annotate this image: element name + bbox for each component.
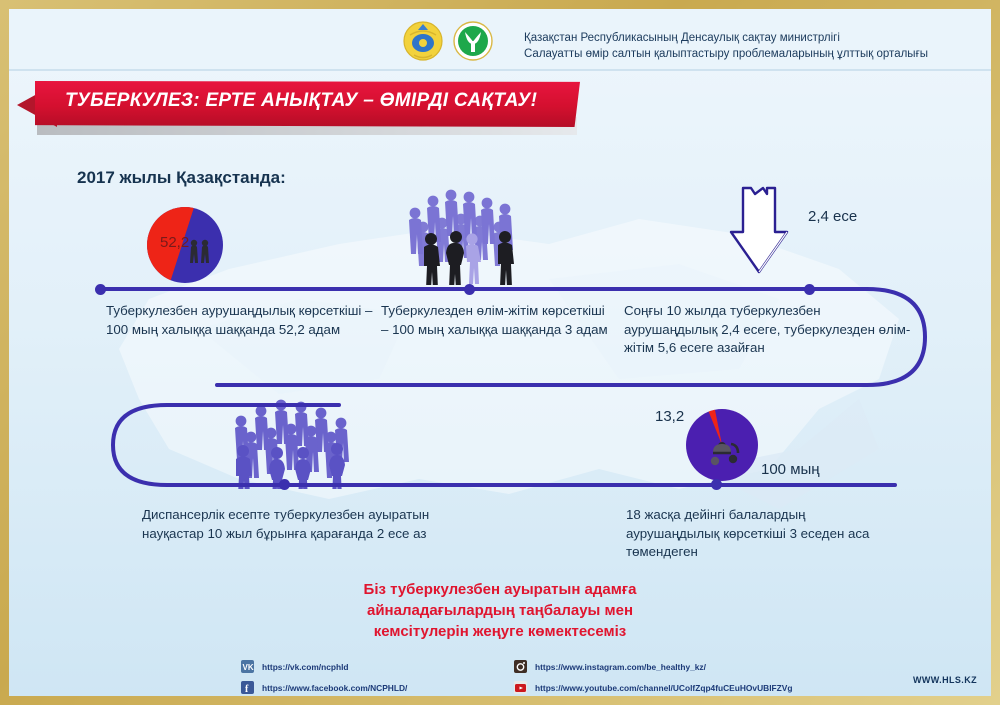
pie-data-label-1: 52,2	[160, 234, 189, 251]
message-line-1: Біз туберкулезбен ауыратын адамға	[9, 579, 991, 600]
facebook-link[interactable]: https://www.facebook.com/NCPHLD/	[262, 683, 407, 693]
stat-text-children: 18 жасқа дейінгі балалардың аурушаңдылық…	[626, 506, 896, 562]
instagram-link[interactable]: https://www.instagram.com/be_healthy_kz/	[535, 662, 706, 672]
facebook-icon[interactable]: f	[241, 681, 254, 694]
stat-text-decade-decline: Соңғы 10 жылда туберкулезбен аурушаңдылы…	[624, 302, 914, 358]
timeline-node-1	[464, 284, 475, 295]
timeline-row-2	[109, 401, 899, 491]
svg-text:f: f	[245, 684, 249, 694]
banner: ТУБЕРКУЛЕЗ: ЕРТЕ АНЫҚТАУ – ӨМІРДІ САҚТАУ…	[9, 77, 609, 147]
footer: VK https://vk.com/ncphld f https://www.f…	[9, 649, 991, 696]
instagram-icon[interactable]	[514, 660, 527, 673]
timeline-node-start	[95, 284, 106, 295]
timeline-node-4	[711, 479, 722, 490]
banner-title: ТУБЕРКУЛЕЗ: ЕРТЕ АНЫҚТАУ – ӨМІРДІ САҚТАУ…	[65, 90, 537, 112]
down-arrow-icon	[727, 184, 793, 279]
stat-text-mortality: Туберкулезден өлім-жітім көрсеткіші – 10…	[381, 302, 613, 339]
youtube-link[interactable]: https://www.youtube.com/channel/UColfZqp…	[535, 683, 792, 693]
stat-text-dispensary: Диспансерлік есепте туберкулезбен ауырат…	[142, 506, 442, 543]
poster-canvas: Қазақстан Республикасының Денсаулық сақт…	[9, 9, 991, 696]
ministry-titles: Қазақстан Республикасының Денсаулық сақт…	[524, 30, 928, 62]
kazakhstan-state-emblem	[402, 21, 444, 61]
emblem-group	[402, 21, 494, 61]
svg-text:VK: VK	[243, 663, 254, 672]
ncphld-logo	[452, 21, 494, 61]
youtube-icon[interactable]	[514, 681, 527, 694]
page-subtitle: 2017 жылы Қазақстанда:	[77, 168, 286, 188]
infographic-poster: Қазақстан Республикасының Денсаулық сақт…	[0, 0, 1000, 705]
message-line-2: айналадағылардың таңбалауы мен	[9, 600, 991, 621]
website-label[interactable]: WWW.HLS.KZ	[913, 675, 977, 685]
banner-body: ТУБЕРКУЛЕЗ: ЕРТЕ АНЫҚТАУ – ӨМІРДІ САҚТАУ…	[35, 81, 580, 127]
timeline-node-3	[279, 479, 290, 490]
arrow-multiplier-label: 2,4 есе	[808, 208, 857, 225]
crowd-people-icon	[401, 181, 531, 285]
ministry-line-1: Қазақстан Республикасының Денсаулық сақт…	[524, 30, 928, 46]
stat-text-incidence: Туберкулезбен аурушаңдылық көрсеткіші – …	[106, 302, 378, 339]
vk-icon[interactable]: VK	[241, 660, 254, 673]
ministry-line-2: Салауатты өмір салтын қалыптастыру пробл…	[524, 46, 928, 62]
timeline-node-2	[804, 284, 815, 295]
vk-link[interactable]: https://vk.com/ncphld	[262, 662, 349, 672]
campaign-message: Біз туберкулезбен ауыратын адамға айнала…	[9, 579, 991, 642]
message-line-3: кемсітулерін жеңуге көмектесеміз	[9, 621, 991, 642]
